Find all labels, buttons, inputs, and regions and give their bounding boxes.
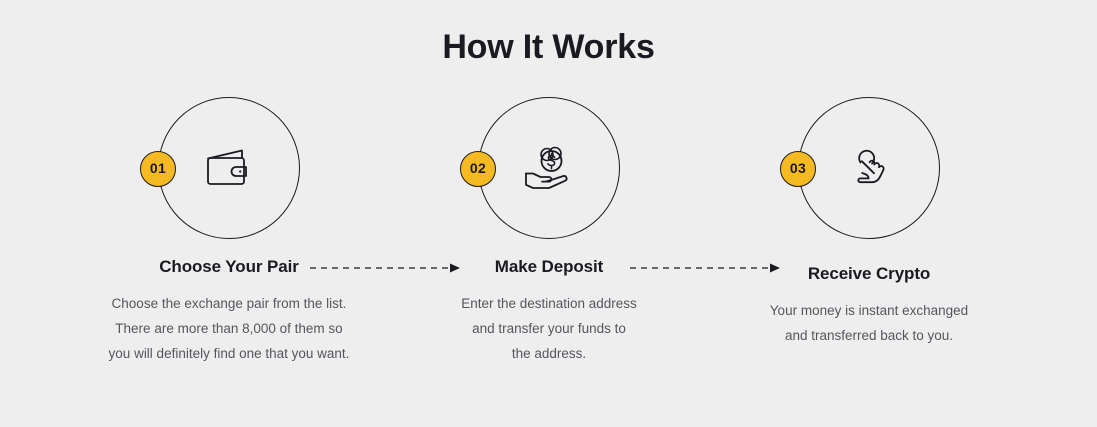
wallet-icon — [196, 136, 262, 202]
step-body-line: Enter the destination address — [389, 291, 709, 316]
step-body-line: and transfer your funds to — [389, 316, 709, 341]
step-body-line: you will definitely find one that you wa… — [69, 341, 389, 366]
dashed-arrow-1-icon — [310, 262, 466, 274]
tap-hand-icon — [836, 136, 902, 202]
step-circle-wrap-3: 03 — [709, 95, 1029, 243]
step-circle-wrap-2: 02 — [389, 95, 709, 243]
step-body-line: Choose the exchange pair from the list. — [69, 291, 389, 316]
step-body-line: the address. — [389, 341, 709, 366]
page-title: How It Works — [0, 28, 1097, 67]
step-item-3: 03 Receive Crypto Your money is instant … — [709, 95, 1029, 348]
step-body-line: There are more than 8,000 of them so — [69, 316, 389, 341]
steps-container: 01 Choose Your Pair Choose the exchange … — [0, 95, 1097, 395]
step-body-line: Your money is instant exchanged — [709, 298, 1029, 323]
step-body-2: Enter the destination address and transf… — [389, 291, 709, 366]
step-item-2: 02 Make Deposit Enter the destination ad… — [389, 95, 709, 366]
step-body-3: Your money is instant exchanged and tran… — [709, 298, 1029, 348]
hand-holding-money-icon — [516, 136, 582, 202]
step-item-1: 01 Choose Your Pair Choose the exchange … — [69, 95, 389, 366]
step-circle-wrap-1: 01 — [69, 95, 389, 243]
step-body-line: and transferred back to you. — [709, 323, 1029, 348]
step-badge-2: 02 — [460, 151, 496, 187]
dashed-arrow-2-icon — [630, 262, 786, 274]
step-body-1: Choose the exchange pair from the list. … — [69, 291, 389, 366]
step-badge-3: 03 — [780, 151, 816, 187]
how-it-works-section: How It Works 01 Choose Your Pair Choose … — [0, 0, 1097, 427]
step-badge-1: 01 — [140, 151, 176, 187]
